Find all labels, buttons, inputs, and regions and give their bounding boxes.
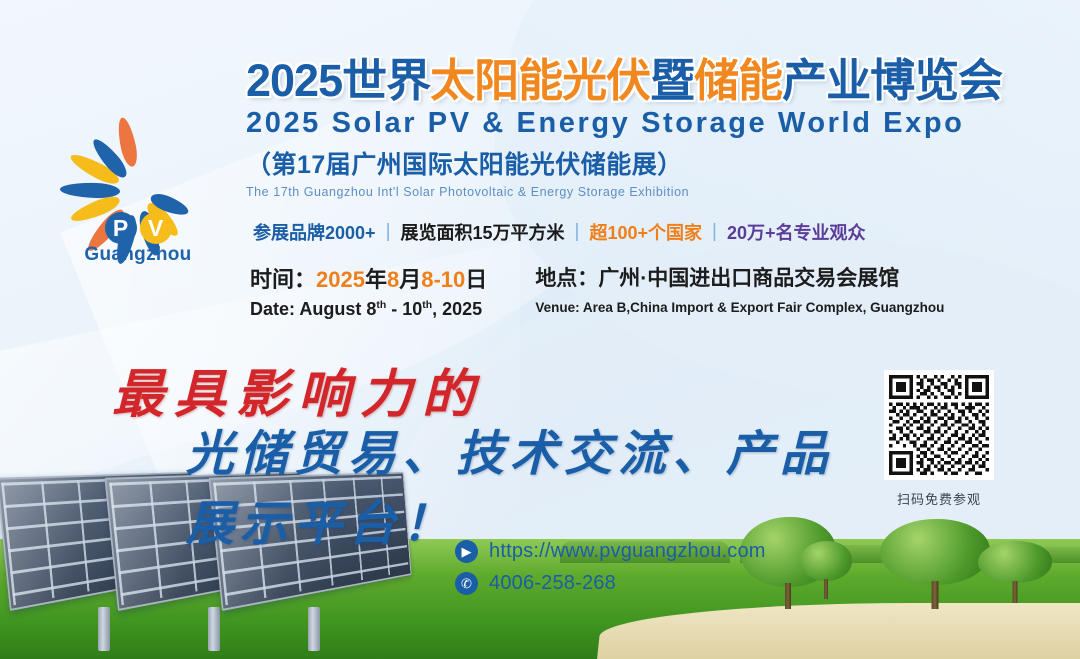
expo-poster: P V Guangzhou 2025世界太阳能光伏暨储能产业博览会 2025 S…	[0, 0, 1080, 659]
tree	[880, 519, 990, 585]
date-day-unit: 日	[465, 267, 487, 292]
website-url[interactable]: https://www.pvguangzhou.com	[489, 540, 766, 563]
logo-letter-p: P	[105, 212, 137, 244]
phone-number[interactable]: 4006-258-268	[489, 572, 616, 595]
date-year: 2025	[316, 267, 365, 292]
date-line-cn: 时间：2025年8月8-10日	[250, 262, 487, 294]
logo-wordmark: P V Guangzhou	[52, 212, 224, 264]
qr-block: 扫码免费参观	[880, 370, 998, 508]
date-en-prefix: Date: August 8	[250, 299, 376, 319]
phone-row[interactable]: ✆ 4006-258-268	[455, 572, 766, 595]
stat-separator: |	[705, 221, 724, 243]
date-en-mid: - 10	[386, 299, 422, 319]
date-en-sup-1: th	[376, 300, 386, 311]
title-part-3: 储能	[694, 55, 782, 106]
date-label-cn: 时间：	[250, 267, 316, 292]
stat-brands: 参展品牌2000+	[250, 219, 379, 245]
date-month-unit: 月	[399, 267, 421, 292]
stat-separator: |	[379, 221, 398, 243]
qr-caption: 扫码免费参观	[880, 489, 998, 508]
contact-block: ▶ https://www.pvguangzhou.com ✆ 4006-258…	[455, 540, 766, 604]
slogan-block: 最具影响力的 光储贸易、技术交流、产品展示平台！	[0, 352, 880, 492]
title-part-4: 产业博览会	[782, 55, 1002, 106]
stat-separator: |	[568, 221, 587, 243]
website-row[interactable]: ▶ https://www.pvguangzhou.com	[455, 540, 766, 563]
subtitle-en: The 17th Guangzhou Int'l Solar Photovolt…	[246, 185, 1046, 199]
venue-value-cn: 广州·中国进出口商品交易会展馆	[598, 267, 899, 290]
phone-circle-icon: ✆	[455, 572, 478, 595]
stat-countries: 超100+个国家	[586, 219, 705, 245]
logo-city-label: Guangzhou	[52, 245, 224, 264]
venue-column: 地点：广州·中国进出口商品交易会展馆 Venue: Area B,China I…	[535, 262, 944, 320]
play-circle-icon: ▶	[455, 540, 478, 563]
date-days: 8-10	[421, 267, 465, 292]
logo-letter-v: V	[140, 212, 172, 244]
date-venue-block: 时间：2025年8月8-10日 Date: August 8th - 10th,…	[250, 262, 944, 320]
qr-code-image[interactable]	[884, 370, 994, 480]
date-month: 8	[387, 267, 399, 292]
title-part-2: 暨	[650, 55, 694, 106]
subtitle-cn: （第17届广州国际太阳能光伏储能展）	[246, 145, 1046, 181]
main-title-en: 2025 Solar PV & Energy Storage World Exp…	[246, 107, 1046, 140]
venue-line-cn: 地点：广州·中国进出口商品交易会展馆	[535, 262, 944, 292]
venue-line-en: Venue: Area B,China Import & Export Fair…	[535, 300, 944, 315]
stat-visitors: 20万+名专业观众	[724, 219, 869, 245]
stat-area: 展览面积15万平方米	[398, 219, 568, 245]
slogan-line-2: 光储贸易、技术交流、产品展示平台！	[186, 414, 880, 554]
date-year-unit: 年	[365, 267, 387, 292]
date-en-sup-2: th	[422, 300, 432, 311]
pv-guangzhou-logo[interactable]: P V Guangzhou	[52, 108, 224, 276]
date-line-en: Date: August 8th - 10th, 2025	[250, 299, 487, 320]
title-part-0: 2025世界	[246, 55, 430, 106]
headline-block: 2025世界太阳能光伏暨储能产业博览会 2025 Solar PV & Ener…	[246, 58, 1046, 199]
tree	[978, 541, 1052, 583]
main-title-cn: 2025世界太阳能光伏暨储能产业博览会	[246, 58, 1046, 104]
title-part-1: 太阳能光伏	[430, 55, 650, 106]
stats-strip: 参展品牌2000+ | 展览面积15万平方米 | 超100+个国家 | 20万+…	[250, 219, 869, 245]
date-en-suffix: , 2025	[432, 299, 482, 319]
venue-label-cn: 地点：	[535, 267, 598, 290]
date-column: 时间：2025年8月8-10日 Date: August 8th - 10th,…	[250, 262, 487, 320]
